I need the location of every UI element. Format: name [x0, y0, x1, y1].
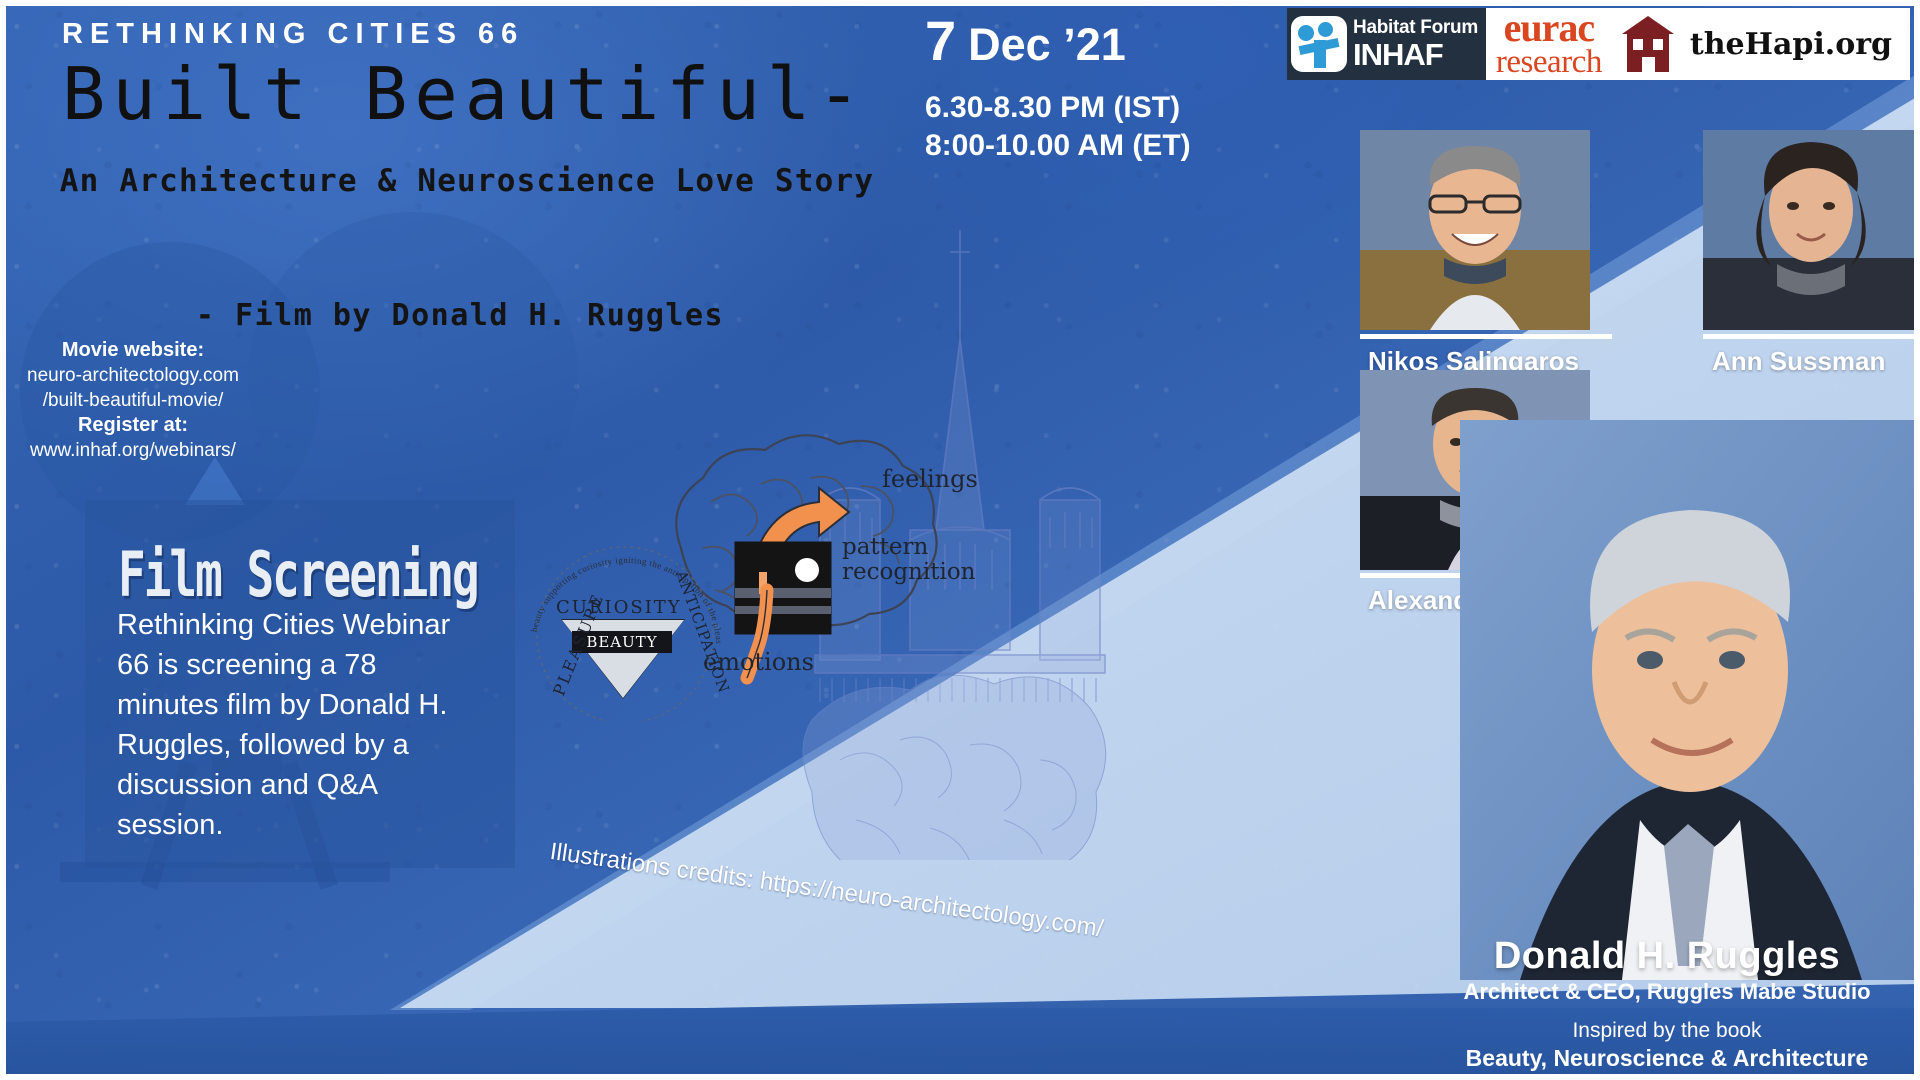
- poster-kicker: RETHINKING CITIES 66: [62, 18, 524, 51]
- avatar-ann-sussman: [1703, 130, 1918, 330]
- film-screening-body: Rethinking Cities Webinar 66 is screenin…: [117, 605, 477, 845]
- page-title: Built Beautiful-: [62, 52, 868, 136]
- logo-thehapi[interactable]: theHapi.org: [1612, 8, 1910, 80]
- label-curiosity: CURIOSITY: [556, 597, 682, 618]
- logo-strip: Habitat Forum INHAF eurac research theHa…: [1287, 8, 1910, 80]
- date-day: 7: [925, 9, 956, 72]
- book-title: Beauty, Neuroscience & Architecture: [1432, 1045, 1902, 1072]
- logo-inhaf[interactable]: Habitat Forum INHAF: [1287, 8, 1486, 80]
- label-feelings: feelings: [882, 465, 978, 493]
- time-et: 8:00-10.00 AM (ET): [925, 129, 1191, 163]
- eurac-text: eurac: [1504, 9, 1595, 47]
- date-time-block: 7Dec ’21 6.30-8.30 PM (IST) 8:00-10.00 A…: [925, 8, 1191, 163]
- movie-website-url-line1[interactable]: neuro-architectology.com: [8, 363, 258, 388]
- presenter-block: Donald H. Ruggles Architect & CEO, Ruggl…: [1432, 935, 1902, 1072]
- date-month-year: Dec ’21: [968, 19, 1126, 70]
- poster-subtitle: An Architecture & Neuroscience Love Stor…: [42, 158, 892, 204]
- film-screening-title: Film Screening: [118, 538, 478, 611]
- portrait-photo: [1703, 130, 1918, 330]
- house-icon: [1622, 16, 1674, 72]
- portrait-photo: [1360, 130, 1590, 330]
- inspired-label: Inspired by the book: [1432, 1019, 1902, 1043]
- inhaf-habitat-forum-text: Habitat Forum: [1353, 18, 1478, 37]
- hapi-wordmark-text: theHapi.org: [1690, 27, 1892, 62]
- date-line: 7Dec ’21: [925, 8, 1191, 73]
- nameline-ann: [1703, 334, 1918, 339]
- triangle-decoration-icon: [185, 457, 245, 505]
- label-pattern-recognition: pattern recognition: [842, 535, 992, 585]
- portrait-photo: [1460, 420, 1920, 980]
- nameline-nikos: [1360, 334, 1612, 339]
- movie-website-url-line2[interactable]: /built-beautiful-movie/: [8, 388, 258, 413]
- avatar-nikos-salingaros: [1360, 130, 1590, 330]
- inhaf-people-icon: [1291, 16, 1347, 72]
- time-ist: 6.30-8.30 PM (IST): [925, 91, 1191, 125]
- speaker-name-ann: Ann Sussman: [1712, 346, 1885, 377]
- film-reel-silhouette-right: [248, 212, 578, 542]
- presenter-role: Architect & CEO, Ruggles Mabe Studio: [1432, 979, 1902, 1005]
- curiosity-beauty-diagram: beauty supporting curiosity igniting the…: [530, 545, 730, 710]
- logo-eurac-research[interactable]: eurac research: [1486, 8, 1612, 80]
- inhaf-abbrev-text: INHAF: [1353, 39, 1478, 70]
- poster-byline: - Film by Donald H. Ruggles: [150, 292, 770, 339]
- presenter-name: Donald H. Ruggles: [1432, 935, 1902, 978]
- register-url[interactable]: www.inhaf.org/webinars/: [8, 438, 258, 463]
- movie-website-label: Movie website:: [8, 338, 258, 363]
- register-label: Register at:: [8, 413, 258, 438]
- links-block: Movie website: neuro-architectology.com …: [8, 338, 258, 463]
- poster-canvas: feelings pattern recognition emotions be…: [0, 0, 1920, 1080]
- avatar-donald-ruggles: [1460, 420, 1920, 980]
- inhaf-wordmark: Habitat Forum INHAF: [1353, 18, 1478, 70]
- eurac-research-text: research: [1496, 47, 1602, 78]
